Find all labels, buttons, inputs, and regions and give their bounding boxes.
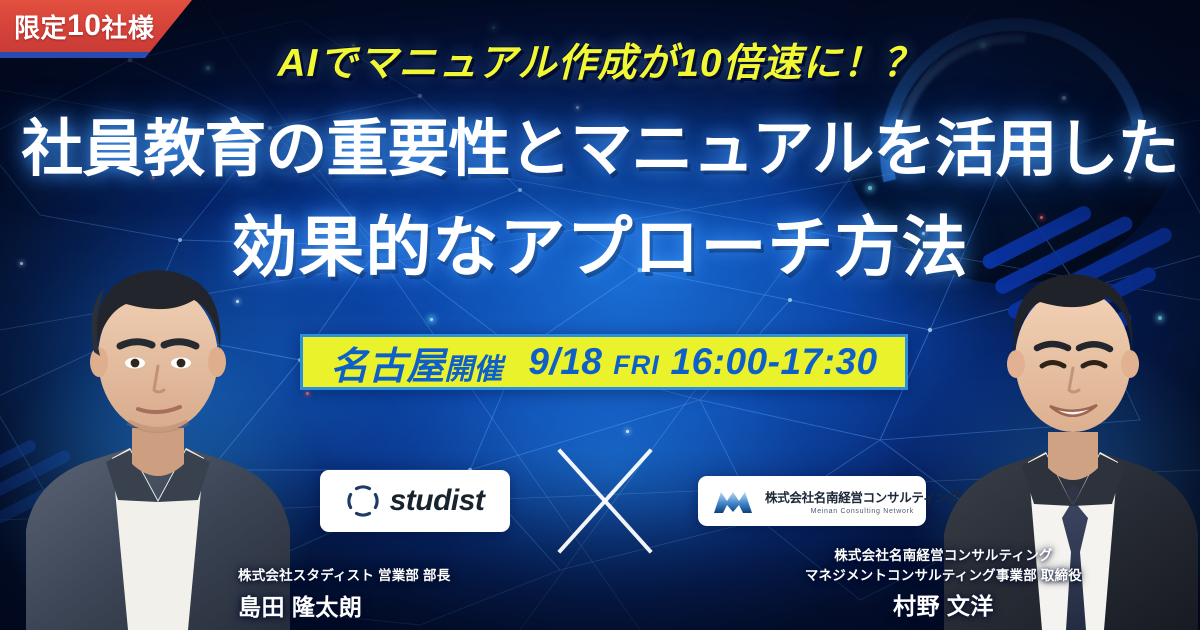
speaker-left-role: 株式会社スタディスト 営業部 部長 xyxy=(238,566,450,586)
headline-line-2: 効果的なアプローチ方法 xyxy=(0,194,1200,290)
speaker-right-company: 株式会社名南経営コンサルティング xyxy=(805,546,1082,566)
badge-number: 10 xyxy=(67,9,101,43)
meinan-logo-jp: 株式会社名南経営コンサルティング xyxy=(765,487,959,506)
badge-text: 限定10社様 xyxy=(14,0,154,52)
event-venue: 名古屋開催 xyxy=(330,335,502,390)
badge-prefix: 限定 xyxy=(14,8,67,45)
limited-slots-badge: 限定10社様 xyxy=(0,0,192,52)
event-day-of-week: FRI xyxy=(613,350,660,380)
event-date: 9/18 xyxy=(528,341,602,382)
meinan-logo-text: 株式会社名南経営コンサルティング Meinan Consulting Netwo… xyxy=(765,487,959,515)
studist-logo: studist xyxy=(320,470,510,532)
cross-separator-icon xyxy=(543,432,667,570)
speaker-caption-left: 株式会社スタディスト 営業部 部長 島田 隆太朗 xyxy=(238,566,450,622)
meinan-logo: 株式会社名南経営コンサルティング Meinan Consulting Netwo… xyxy=(698,476,926,526)
speaker-right-name: 村野 文洋 xyxy=(805,587,1082,621)
event-datetime: 9/18 FRI 16:00-17:30 xyxy=(528,341,877,383)
segmented-circle-icon xyxy=(346,484,380,518)
event-time: 16:00-17:30 xyxy=(671,341,878,382)
speaker-left-name: 島田 隆太朗 xyxy=(238,588,450,622)
event-date-bar: 名古屋開催 9/18 FRI 16:00-17:30 xyxy=(300,334,908,390)
mountain-peaks-icon xyxy=(712,487,754,515)
speaker-right-role: マネジメントコンサルティング事業部 取締役 xyxy=(805,566,1082,586)
speaker-caption-right: 株式会社名南経営コンサルティング マネジメントコンサルティング事業部 取締役 村… xyxy=(805,546,1082,621)
meinan-logo-en: Meinan Consulting Network xyxy=(765,508,959,515)
badge-suffix: 社様 xyxy=(101,8,154,45)
seminar-banner: 限定10社様 AIでマニュアル作成が10倍速に！？ 社員教育の重要性とマニュアル… xyxy=(0,0,1200,630)
venue-city: 名古屋 xyxy=(330,346,444,388)
headline-line-1: 社員教育の重要性とマニュアルを活用した xyxy=(0,98,1200,188)
venue-suffix: 開催 xyxy=(444,354,502,386)
studist-wordmark: studist xyxy=(390,484,485,518)
